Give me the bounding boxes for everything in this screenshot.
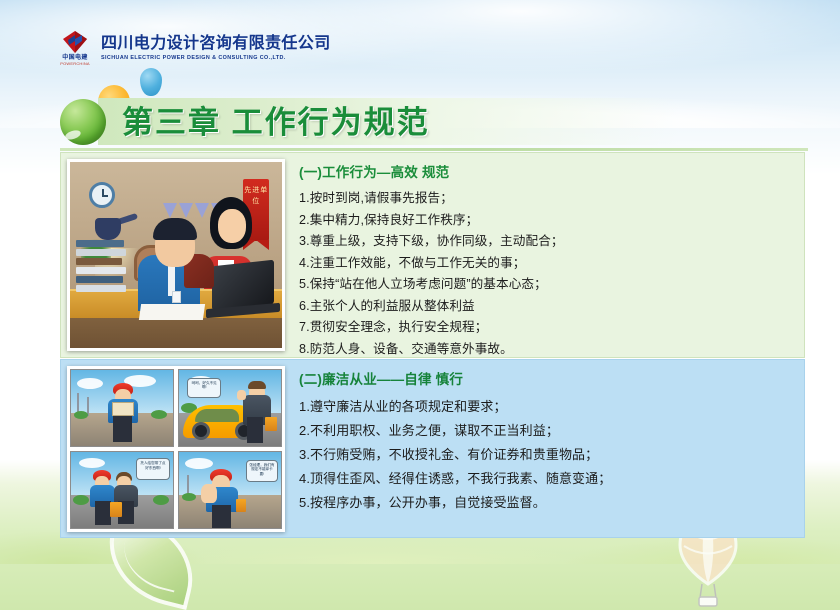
book	[76, 240, 124, 247]
green-sphere-bullet-icon	[60, 99, 106, 145]
gift-bag-icon	[110, 502, 122, 517]
list-item: 8.防范人身、设备、交通等意外事故。	[299, 339, 794, 361]
comic-panel-4: 张经理，我们有规定不能拿卡要!	[178, 451, 282, 529]
list-item: 2.不利用职权、业务之便，谋取不正当利益；	[299, 419, 794, 443]
speech-bubble: 呵呵，好久不见啊!	[187, 378, 221, 398]
comic-panel-2: 呵呵，好久不见啊!	[178, 369, 282, 447]
rule-list: 1.按时到岗,请假事先报告； 2.集中精力,保持良好工作秩序； 3.尊重上级，支…	[299, 188, 794, 360]
waving-hand-icon	[237, 390, 246, 400]
powerchina-diamond-logo-icon	[60, 30, 90, 54]
list-item: 6.主张个人的利益服从整体利益	[299, 296, 794, 318]
section-heading: (二)廉洁从业——自律 慎行	[299, 368, 794, 388]
list-item: 3.不行贿受贿，不收授礼金、有价证券和贵重物品；	[299, 443, 794, 467]
laptop-screen-icon	[212, 260, 274, 311]
section-body-work-behavior: (一)工作行为—高效 规范 1.按时到岗,请假事先报告； 2.集中精力,保持良好…	[285, 153, 804, 357]
list-item: 1.遵守廉洁从业的各项规定和要求；	[299, 395, 794, 419]
list-item: 2.集中精力,保持良好工作秩序；	[299, 210, 794, 232]
list-item: 3.尊重上级，支持下级，协作同级，主动配合；	[299, 231, 794, 253]
bunting-flag	[195, 203, 209, 218]
chapter-title-row: 第三章 工作行为规范	[60, 98, 820, 148]
list-item: 4.顶得住歪风、经得住诱惑，不我行我素、随意变通；	[299, 467, 794, 491]
list-item: 7.贯彻安全理念，执行安全规程；	[299, 317, 794, 339]
company-name-block: 四川电力设计咨询有限责任公司 SICHUAN ELECTRIC POWER DE…	[101, 35, 331, 60]
bunting-flag	[163, 203, 177, 218]
title-underline	[60, 148, 808, 151]
colleague-face	[218, 209, 246, 243]
company-logo-bar: 中国电建 POWERCHINA 四川电力设计咨询有限责任公司 SICHUAN E…	[56, 30, 331, 66]
section-body-integrity: (二)廉洁从业——自律 慎行 1.遵守廉洁从业的各项规定和要求； 2.不利用职权…	[285, 360, 804, 537]
list-item: 1.按时到岗,请假事先报告；	[299, 188, 794, 210]
book	[76, 276, 123, 283]
achievement-banner-text: 先进单位	[243, 185, 269, 207]
section-heading: (一)工作行为—高效 规范	[299, 161, 794, 181]
logo-mark-wrap: 中国电建 POWERCHINA	[56, 30, 94, 66]
car-window	[195, 409, 238, 422]
section-panel-work-behavior: 先进单位	[60, 152, 805, 358]
comic-panel-1	[70, 369, 174, 447]
comic-panel-3: 托人给您带了点好东西啊!	[70, 451, 174, 529]
list-item: 5.按程序办事，公开办事，自觉接受监督。	[299, 491, 794, 515]
bush-icon	[74, 411, 88, 419]
rule-list: 1.遵守廉洁从业的各项规定和要求； 2.不利用职权、业务之便，谋取不正当利益； …	[299, 395, 794, 515]
desk-paper	[139, 304, 205, 320]
car-wheel	[192, 422, 210, 440]
list-item: 5.保持“站在他人立场考虑问题”的基本心态；	[299, 274, 794, 296]
company-name-cn: 四川电力设计咨询有限责任公司	[101, 35, 331, 52]
manager-legs	[247, 417, 263, 443]
bunting-flag	[179, 203, 193, 218]
office-figure-wrap: 先进单位	[61, 153, 285, 357]
book	[76, 249, 126, 256]
cloud-icon	[77, 378, 103, 389]
section-panel-integrity: 呵呵，好久不见啊! 托人给您带了点好东西啊!	[60, 359, 805, 538]
worker-legs	[212, 505, 231, 529]
list-item: 4.注重工作效能，不做与工作无关的事；	[299, 253, 794, 275]
bush-icon	[151, 410, 167, 419]
employee-id-badge	[172, 291, 181, 303]
comic-figure-wrap: 呵呵，好久不见啊! 托人给您带了点好东西啊!	[61, 360, 285, 537]
book-stack-icon	[76, 240, 126, 292]
book	[76, 258, 122, 265]
gift-bag-icon	[265, 417, 277, 431]
blue-balloon-dot-icon	[140, 68, 162, 96]
integrity-comic-strip: 呵呵，好久不见啊! 托人给您带了点好东西啊!	[67, 366, 285, 532]
book	[76, 285, 126, 292]
page-title: 第三章 工作行为规范	[122, 100, 430, 145]
company-name-en: SICHUAN ELECTRIC POWER DESIGN & CONSULTI…	[101, 55, 331, 61]
bush-icon	[182, 493, 196, 501]
speech-bubble: 张经理，我们有规定不能拿卡要!	[246, 460, 278, 482]
book	[76, 267, 126, 274]
manager-hair	[248, 381, 266, 389]
gift-bag-icon	[236, 499, 246, 512]
office-work-illustration: 先进单位	[67, 159, 285, 351]
document-icon	[112, 402, 134, 416]
speech-bubble: 托人给您带了点好东西啊!	[136, 458, 170, 480]
worker-legs	[113, 416, 132, 442]
logo-en-abbr: POWERCHINA	[60, 62, 90, 66]
stop-hand-icon	[201, 484, 217, 503]
